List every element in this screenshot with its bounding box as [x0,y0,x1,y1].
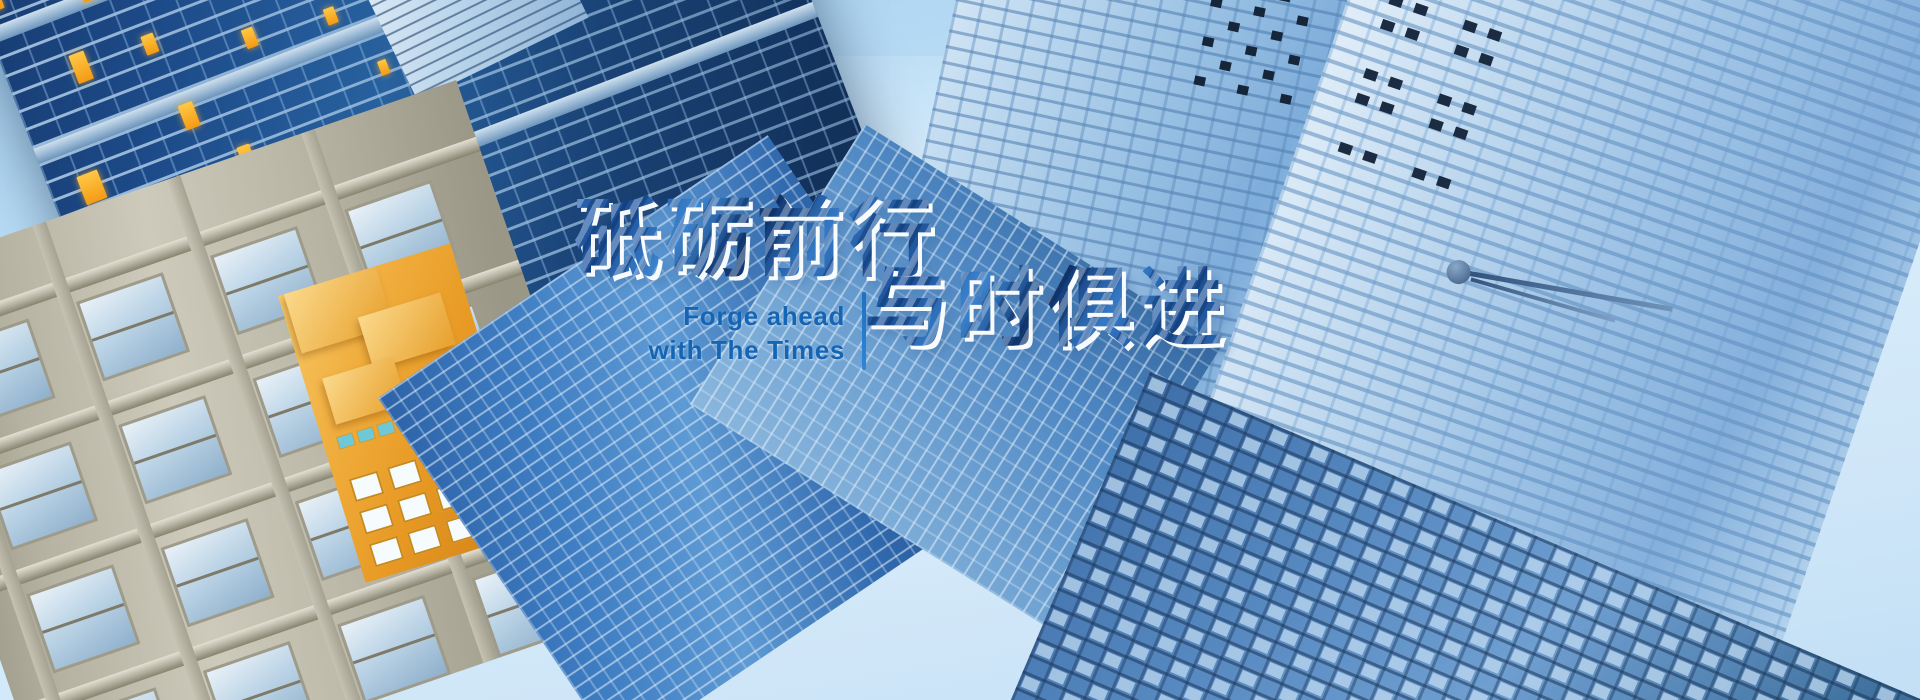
stone-window [0,441,98,550]
english-tagline: Forge ahead with The Times [520,300,845,368]
dark-window [1262,70,1275,81]
dark-window [1193,75,1206,86]
mullion-h [1209,208,1914,454]
gold-window [349,471,385,503]
stone-window [0,318,56,427]
dark-window [1338,142,1354,156]
mullion-h [1204,222,1909,468]
gold-window [387,459,423,491]
gold-window [359,503,395,535]
dark-window [1388,76,1404,90]
dark-window [1437,93,1453,107]
gold-accent-tile [356,426,376,443]
dark-window [1280,94,1293,105]
dark-window [1253,6,1266,17]
english-tagline-line1: Forge ahead [520,300,845,334]
english-tagline-line2: with The Times [520,334,845,368]
hero-banner: 砥砺前行 Forge ahead with The Times 与时俱进 [0,0,1920,700]
dark-window [1362,150,1378,164]
dark-window [1363,68,1379,82]
lit-window [0,0,5,13]
gold-accent-tile [376,420,396,437]
dark-window [1296,15,1309,26]
dark-window [1236,85,1249,96]
gold-window [369,536,405,568]
gold-accent-tile [336,432,356,449]
mullion-h [1219,179,1920,425]
dark-window [1288,55,1301,66]
mullion-h [1214,194,1919,440]
headline-secondary: 与时俱进 [864,238,1229,363]
dark-window [1411,167,1427,181]
gold-window [407,524,443,556]
dark-window [1270,30,1283,41]
gold-window [397,491,433,523]
dark-window [1245,45,1258,56]
